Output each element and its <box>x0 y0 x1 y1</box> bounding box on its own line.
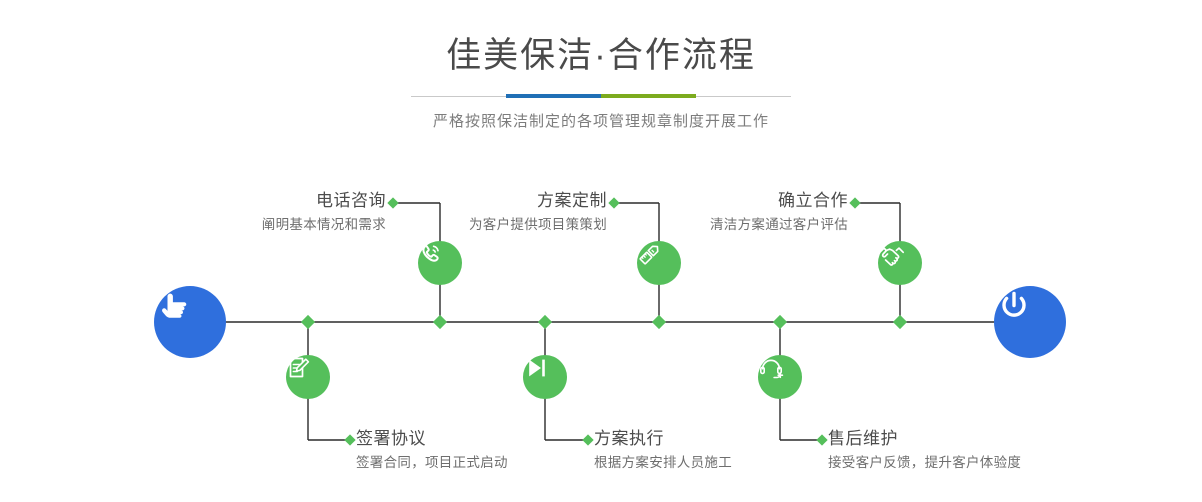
step-icon-sign-agreement[interactable] <box>286 355 330 399</box>
step-label-5: 确立合作 清洁方案通过客户评估 <box>710 190 848 235</box>
label-node <box>387 197 398 208</box>
label-node <box>849 197 860 208</box>
step-title: 方案执行 <box>594 428 732 450</box>
timeline-node <box>893 315 907 329</box>
step-label-2: 签署协议 签署合同，项目正式启动 <box>356 428 508 473</box>
step-icon-phone-consult[interactable] <box>418 241 462 285</box>
step-title: 方案定制 <box>469 190 607 212</box>
step-icon-plan-execute[interactable] <box>523 355 567 399</box>
timeline-node <box>538 315 552 329</box>
step-desc: 接受客户反馈，提升客户体验度 <box>828 453 1021 473</box>
flow-end-button[interactable] <box>994 286 1066 358</box>
cooperation-flow-infographic: 佳美保洁·合作流程 严格按照保洁制定的各项管理规章制度开展工作 <box>0 0 1202 502</box>
step-desc: 清洁方案通过客户评估 <box>710 215 848 235</box>
step-desc: 根据方案安排人员施工 <box>594 453 732 473</box>
step-label-3: 方案定制 为客户提供项目策策划 <box>469 190 607 235</box>
flow-start-button[interactable] <box>154 286 226 358</box>
step-label-4: 方案执行 根据方案安排人员施工 <box>594 428 732 473</box>
flow-diagram: 电话咨询 阐明基本情况和需求 方案定制 为客户提供项目策策划 确立合作 清洁方案… <box>0 0 1202 502</box>
timeline-node <box>652 315 666 329</box>
step-label-1: 电话咨询 阐明基本情况和需求 <box>262 190 386 235</box>
step-title: 电话咨询 <box>262 190 386 212</box>
step-desc: 签署合同，项目正式启动 <box>356 453 508 473</box>
flow-connectors <box>0 0 1202 502</box>
step-desc: 为客户提供项目策策划 <box>469 215 607 235</box>
timeline-node <box>301 315 315 329</box>
step-icon-after-sales[interactable] <box>758 355 802 399</box>
step-label-6: 售后维护 接受客户反馈，提升客户体验度 <box>828 428 1021 473</box>
timeline-node <box>773 315 787 329</box>
label-node <box>344 434 355 445</box>
label-node <box>582 434 593 445</box>
step-desc: 阐明基本情况和需求 <box>262 215 386 235</box>
step-icon-establish-cooperation[interactable] <box>878 241 922 285</box>
step-title: 确立合作 <box>710 190 848 212</box>
timeline-node <box>433 315 447 329</box>
label-node <box>608 197 619 208</box>
label-node <box>816 434 827 445</box>
step-title: 售后维护 <box>828 428 1021 450</box>
step-icon-plan-customize[interactable] <box>637 241 681 285</box>
step-title: 签署协议 <box>356 428 508 450</box>
